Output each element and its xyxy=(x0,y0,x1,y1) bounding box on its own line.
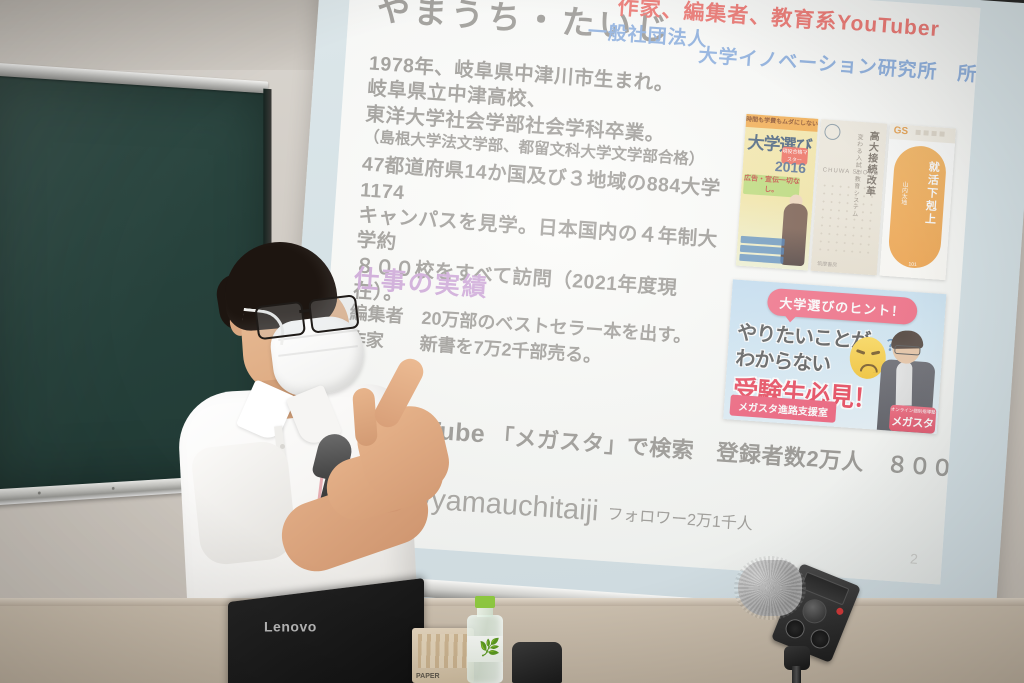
promo-glasses-icon xyxy=(894,345,921,356)
promo-brand-name: メガスタ xyxy=(889,413,936,432)
book1-sub-list xyxy=(739,236,785,266)
presenter-sleeve xyxy=(190,439,298,566)
book-covers: 時間も学費もムダにしない 大学選び 現役合格マスター 2016 広告・宣伝一切な… xyxy=(736,114,956,280)
book1-year: 2016 xyxy=(774,158,806,176)
record-button[interactable] xyxy=(835,607,844,616)
screenshot-root: 山内太地 やまうち・たいじ 作家、編集者、教育系YouTuber 一般社団法人 … xyxy=(0,0,1024,683)
paper-bag-label: PAPER xyxy=(416,673,440,680)
book3-author: 山内太地 xyxy=(899,181,910,206)
leaf-icon: 🌿 xyxy=(479,639,500,656)
desk-edge xyxy=(0,598,1024,606)
book2-publisher: 筑摩書房 xyxy=(817,260,837,268)
recorder-capsule-right xyxy=(808,627,833,652)
mic-stand-pole xyxy=(792,666,801,683)
slide-org-line2: 大学イノベーション研究所 所長 xyxy=(698,40,981,88)
promo-banner: 大学選びのヒント！ やりたいことが わからない 受験生必見！ ？ オンライン個別… xyxy=(723,279,946,434)
book3-series: GS xyxy=(893,125,908,137)
promo-brand-tag: オンライン個別指導塾 メガスタ xyxy=(889,405,937,434)
book-cover-daigakuerabi: 時間も学費もムダにしない 大学選び 現役合格マスター 2016 広告・宣伝一切な… xyxy=(736,114,818,271)
windscreen xyxy=(738,560,802,616)
recorder-dial[interactable] xyxy=(799,596,830,627)
publisher-logo-icon xyxy=(824,123,841,140)
book1-illustration-body xyxy=(780,203,808,267)
book-cover-shukatsu: GS 就活下剋上 山内太地 101 xyxy=(880,124,956,280)
paper-bag: PAPER xyxy=(412,628,474,683)
laptop-brand-label: Lenovo xyxy=(264,618,317,634)
water-bottle: 🌿 xyxy=(466,596,504,683)
book2-dot-pattern xyxy=(816,181,877,255)
recorder-capsule-left xyxy=(783,616,808,641)
audio-recorder[interactable] xyxy=(738,558,864,683)
bottle-cap xyxy=(475,596,495,608)
book-cover-koudaisetsuzoku: 高大接続改革 変わる入試と教育システム CHUWA SHOKO 筑摩書房 xyxy=(811,119,887,275)
promo-presenter-photo: オンライン個別指導塾 メガスタ xyxy=(873,332,942,434)
book3-number: 101 xyxy=(908,262,917,269)
twitter-followers: フォロワー2万1千人 xyxy=(606,500,753,539)
camera-bag xyxy=(512,642,562,683)
slide-page-number: 2 xyxy=(910,550,919,567)
book1-green-note: 広告・宣伝一切なし。 xyxy=(743,174,800,198)
